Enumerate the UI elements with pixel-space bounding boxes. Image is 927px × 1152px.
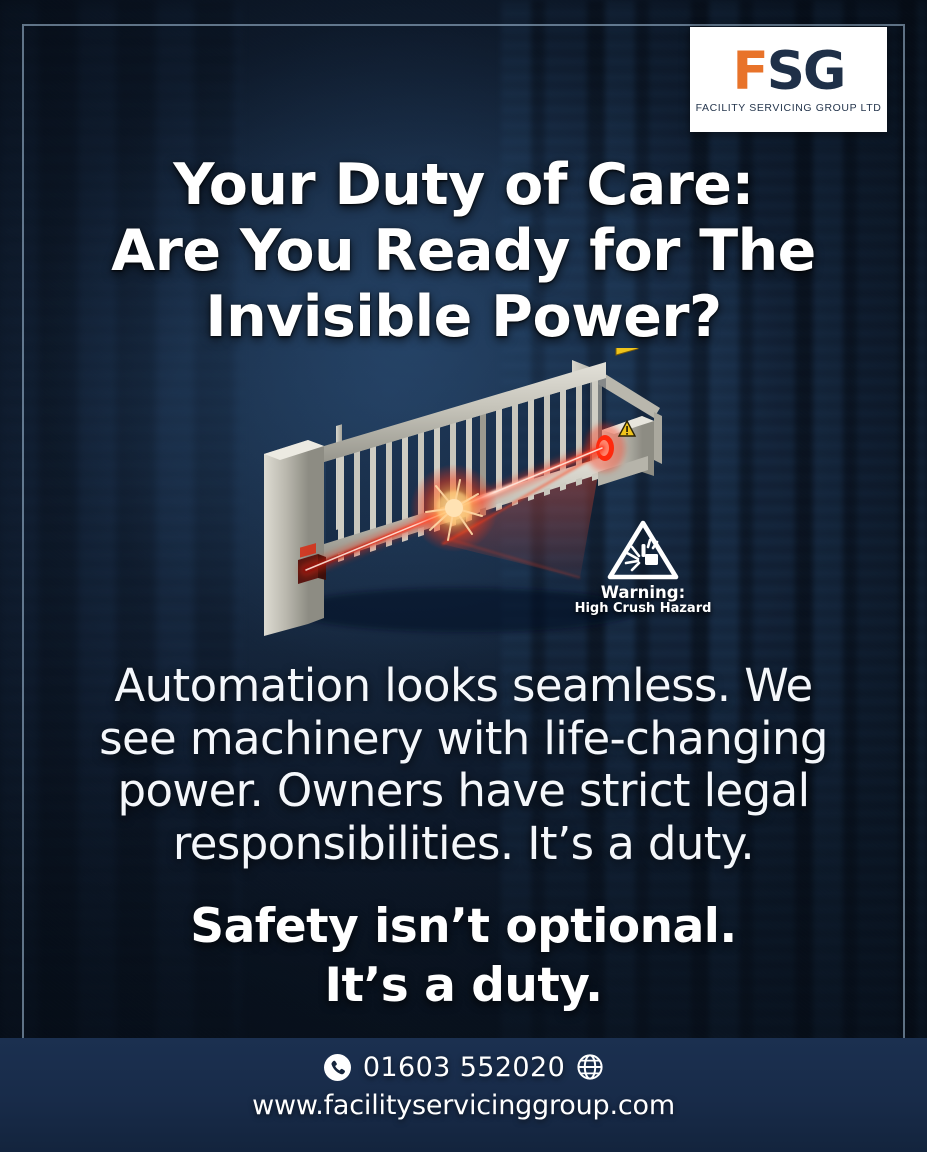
tagline-line-2: It’s a duty. [58,957,869,1016]
body-line-3: power. Owners have strict legal [58,765,869,818]
crush-hazard-icon [606,518,680,582]
closing-tagline: Safety isn’t optional. It’s a duty. [58,898,869,1016]
footer-content: 01603 552020 www.facilityservicinggroup.… [0,1050,927,1121]
crush-hazard-badge: Warning: High Crush Hazard [567,518,719,617]
website-url[interactable]: www.facilityservicinggroup.com [0,1090,927,1121]
headline: Your Duty of Care: Are You Ready for The… [0,152,927,350]
fsg-logo: FSG FACILITY SERVICING GROUP LTD [690,27,887,132]
footer-phone-row: 01603 552020 [0,1050,927,1084]
logo-wordmark: FSG [733,45,845,98]
body-line-1: Automation looks seamless. We [58,660,869,713]
logo-letter-f: F [733,41,767,102]
body-line-2: see machinery with life-changing [58,713,869,766]
headline-line-2: Are You Ready for The [0,218,927,284]
tagline-line-1: Safety isn’t optional. [58,898,869,957]
headline-line-1: Your Duty of Care: [0,152,927,218]
phone-icon[interactable] [323,1053,352,1082]
logo-letters-sg: SG [767,41,845,102]
footer-contact-bar: 01603 552020 www.facilityservicinggroup.… [0,1038,927,1152]
phone-number[interactable]: 01603 552020 [363,1052,565,1083]
hazard-subtitle: High Crush Hazard [567,602,719,617]
body-line-4: responsibilities. It’s a duty. [58,818,869,871]
poster-canvas: FSG FACILITY SERVICING GROUP LTD Your Du… [0,0,927,1152]
logo-tagline: FACILITY SERVICING GROUP LTD [696,102,882,114]
globe-icon[interactable] [576,1053,604,1081]
body-copy: Automation looks seamless. We see machin… [58,660,869,871]
hazard-title: Warning: [567,584,719,602]
headline-line-3: Invisible Power? [0,284,927,350]
